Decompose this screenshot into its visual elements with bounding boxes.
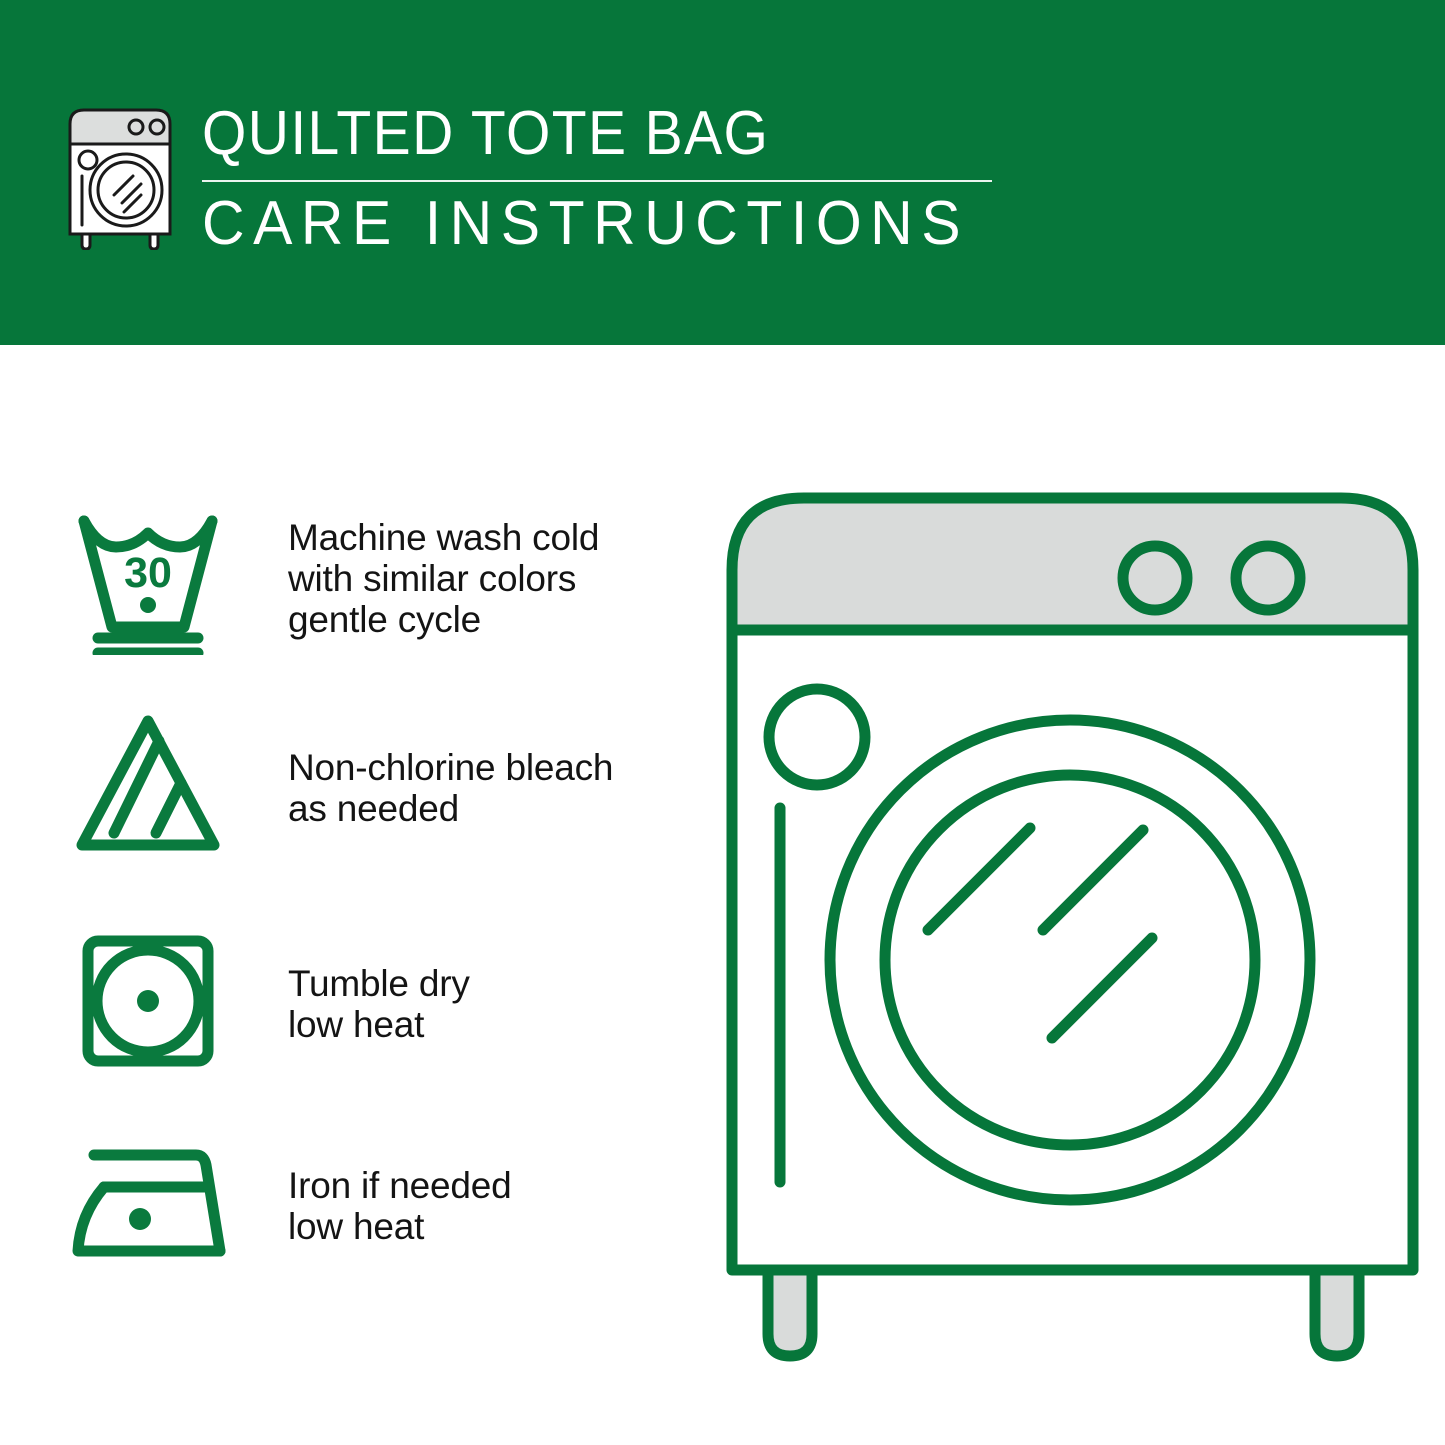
iron-low-heat-icon xyxy=(68,1123,228,1283)
care-row-tumble-dry: Tumble dry low heat xyxy=(68,921,708,1081)
control-dial-right xyxy=(1236,546,1300,610)
page-title: QUILTED TOTE BAG xyxy=(202,102,945,166)
title-divider xyxy=(202,180,992,182)
header-text-block: QUILTED TOTE BAG CARE INSTRUCTIONS xyxy=(202,100,1009,256)
header-banner: QUILTED TOTE BAG CARE INSTRUCTIONS xyxy=(0,0,1445,345)
control-dial-left xyxy=(1123,546,1187,610)
care-text: Tumble dry low heat xyxy=(228,921,708,1045)
tumble-dry-low-icon xyxy=(68,921,228,1081)
leg-left xyxy=(768,1270,812,1356)
leg-right xyxy=(1315,1270,1359,1356)
care-row-iron: Iron if needed low heat xyxy=(68,1123,708,1283)
control-panel xyxy=(732,498,1413,630)
header-content: QUILTED TOTE BAG CARE INSTRUCTIONS xyxy=(60,100,1390,270)
non-chlorine-bleach-triangle-icon xyxy=(68,705,228,865)
washing-machine-icon xyxy=(60,100,180,250)
care-row-bleach: Non-chlorine bleach as needed xyxy=(68,705,708,865)
care-row-machine-wash: 30 Machine wash cold with similar colors… xyxy=(68,495,708,655)
care-text: Machine wash cold with similar colors ge… xyxy=(228,495,708,640)
machine-wash-30-icon: 30 xyxy=(68,495,228,655)
page-subtitle: CARE INSTRUCTIONS xyxy=(202,192,969,256)
washing-machine-illustration xyxy=(700,460,1445,1380)
care-instruction-list: 30 Machine wash cold with similar colors… xyxy=(68,495,708,1283)
care-text: Non-chlorine bleach as needed xyxy=(228,705,708,829)
care-text: Iron if needed low heat xyxy=(228,1123,708,1247)
wash-temp-value: 30 xyxy=(124,549,172,597)
